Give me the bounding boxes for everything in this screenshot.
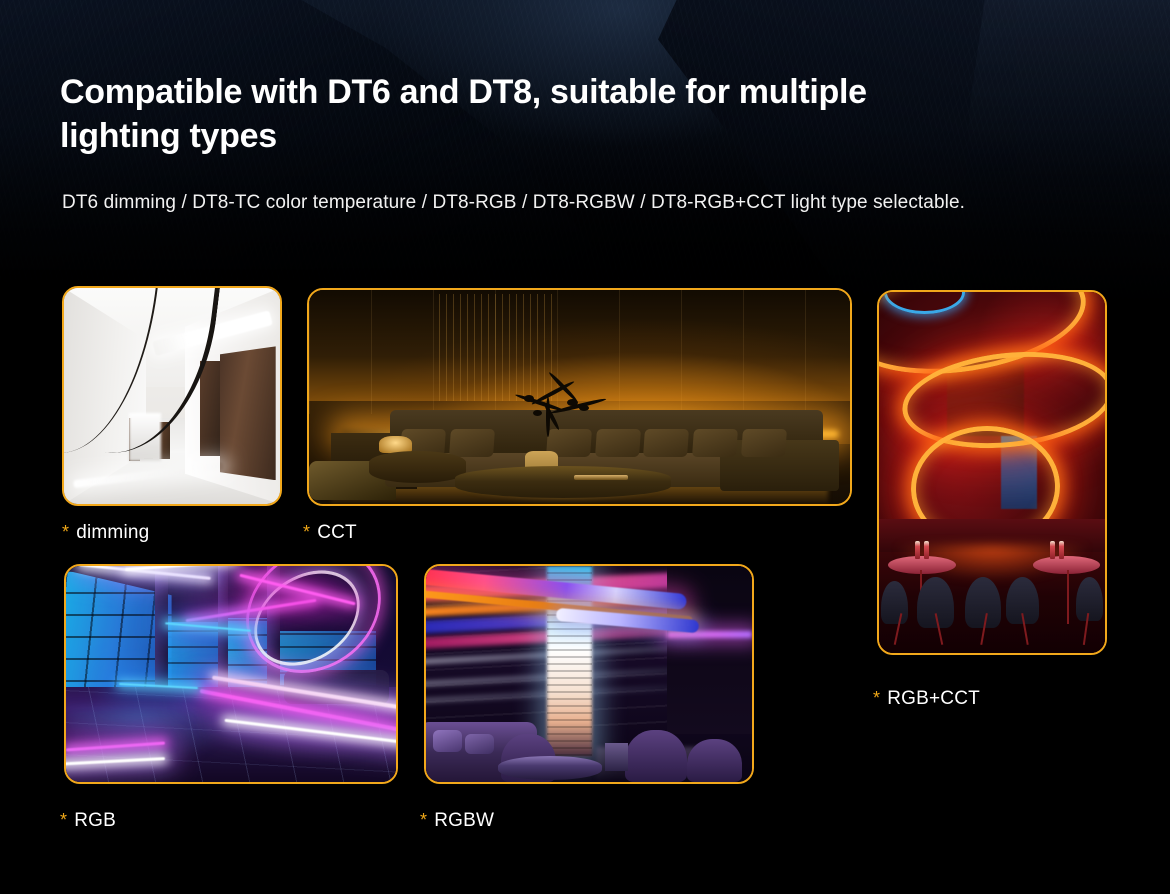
bullet-star-icon: * bbox=[873, 688, 880, 708]
caption-cct: *CCT bbox=[303, 522, 357, 544]
caption-text: RGBW bbox=[434, 810, 494, 831]
gallery-image-rgbw bbox=[424, 564, 754, 784]
photo-neon-hall bbox=[66, 566, 396, 782]
caption-rgb-cct: *RGB+CCT bbox=[873, 688, 980, 710]
caption-rgb: *RGB bbox=[60, 810, 116, 832]
background-fade-to-black bbox=[0, 0, 1170, 320]
page-subtitle: DT6 dimming / DT8-TC color temperature /… bbox=[62, 189, 965, 217]
photo-living-room bbox=[309, 290, 850, 504]
caption-text: RGB+CCT bbox=[887, 688, 980, 709]
bullet-star-icon: * bbox=[420, 810, 427, 830]
gallery-image-rgb bbox=[64, 564, 398, 784]
photo-neon-bar bbox=[879, 292, 1105, 653]
bullet-star-icon: * bbox=[62, 522, 69, 542]
caption-text: RGB bbox=[74, 810, 116, 831]
photo-lounge bbox=[426, 566, 752, 782]
bullet-star-icon: * bbox=[60, 810, 67, 830]
gallery-image-dimming bbox=[62, 286, 282, 506]
page-title: Compatible with DT6 and DT8, suitable fo… bbox=[60, 70, 980, 158]
gallery-image-rgb-cct bbox=[877, 290, 1107, 655]
caption-dimming: *dimming bbox=[62, 522, 149, 544]
caption-rgbw: *RGBW bbox=[420, 810, 494, 832]
gallery-image-cct bbox=[307, 288, 852, 506]
caption-text: CCT bbox=[317, 522, 357, 543]
bullet-star-icon: * bbox=[303, 522, 310, 542]
caption-text: dimming bbox=[76, 522, 149, 543]
photo-corridor bbox=[64, 288, 280, 504]
